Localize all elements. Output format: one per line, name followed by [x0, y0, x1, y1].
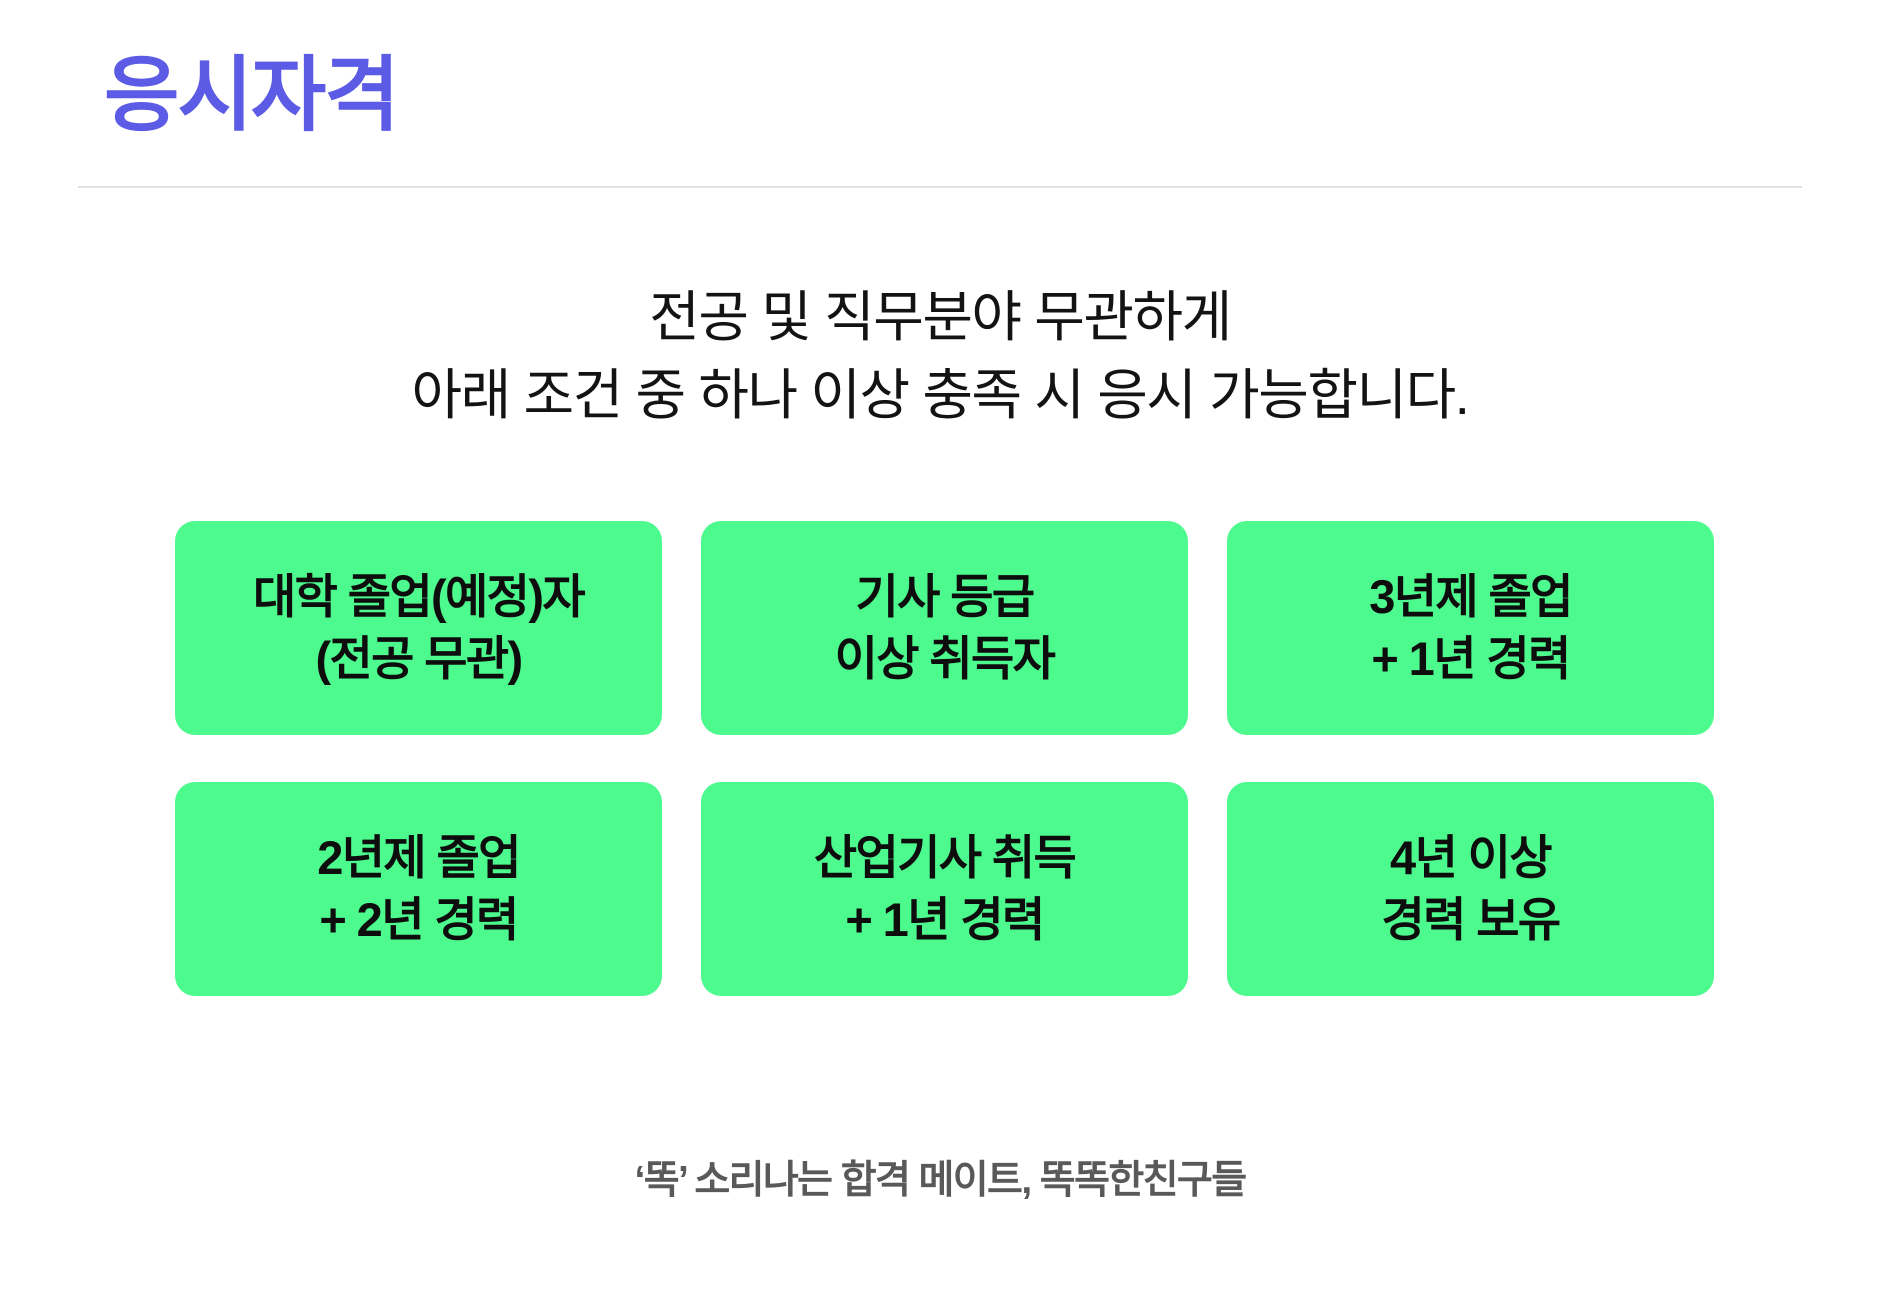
card-2-line-2: 이상 취득자: [835, 628, 1055, 690]
eligibility-card-2[interactable]: 기사 등급 이상 취득자: [701, 521, 1188, 735]
eligibility-card-5[interactable]: 산업기사 취득 + 1년 경력: [701, 782, 1188, 996]
card-6-line-1: 4년 이상: [1390, 827, 1551, 889]
eligibility-card-grid: 대학 졸업(예정)자 (전공 무관) 기사 등급 이상 취득자 3년제 졸업 +…: [175, 521, 1715, 996]
card-3-line-2: + 1년 경력: [1371, 628, 1569, 690]
eligibility-card-1[interactable]: 대학 졸업(예정)자 (전공 무관): [175, 521, 662, 735]
footer-tagline: ‘똑’ 소리나는 합격 메이트, 똑똑한친구들: [0, 1155, 1880, 1207]
subtitle-line-2: 아래 조건 중 하나 이상 충족 시 응시 가능합니다.: [0, 356, 1880, 434]
card-5-line-1: 산업기사 취득: [814, 827, 1075, 889]
card-2-line-1: 기사 등급: [855, 566, 1033, 628]
eligibility-card-4[interactable]: 2년제 졸업 + 2년 경력: [175, 782, 662, 996]
eligibility-card-6[interactable]: 4년 이상 경력 보유: [1227, 782, 1714, 996]
subtitle-line-1: 전공 및 직무분야 무관하게: [0, 278, 1880, 356]
slide-root: 응시자격 전공 및 직무분야 무관하게 아래 조건 중 하나 이상 충족 시 응…: [0, 0, 1880, 1309]
card-3-line-1: 3년제 졸업: [1369, 566, 1572, 628]
subtitle-block: 전공 및 직무분야 무관하게 아래 조건 중 하나 이상 충족 시 응시 가능합…: [0, 278, 1880, 434]
card-4-line-2: + 2년 경력: [319, 889, 517, 951]
header-divider: [78, 186, 1802, 188]
slide-header: 응시자격: [0, 0, 1880, 188]
card-1-line-1: 대학 졸업(예정)자: [253, 566, 584, 628]
card-4-line-1: 2년제 졸업: [317, 827, 520, 889]
eligibility-card-3[interactable]: 3년제 졸업 + 1년 경력: [1227, 521, 1714, 735]
card-6-line-2: 경력 보유: [1381, 889, 1559, 951]
page-title: 응시자격: [104, 55, 398, 137]
card-5-line-2: + 1년 경력: [845, 889, 1043, 951]
card-1-line-2: (전공 무관): [315, 628, 521, 690]
